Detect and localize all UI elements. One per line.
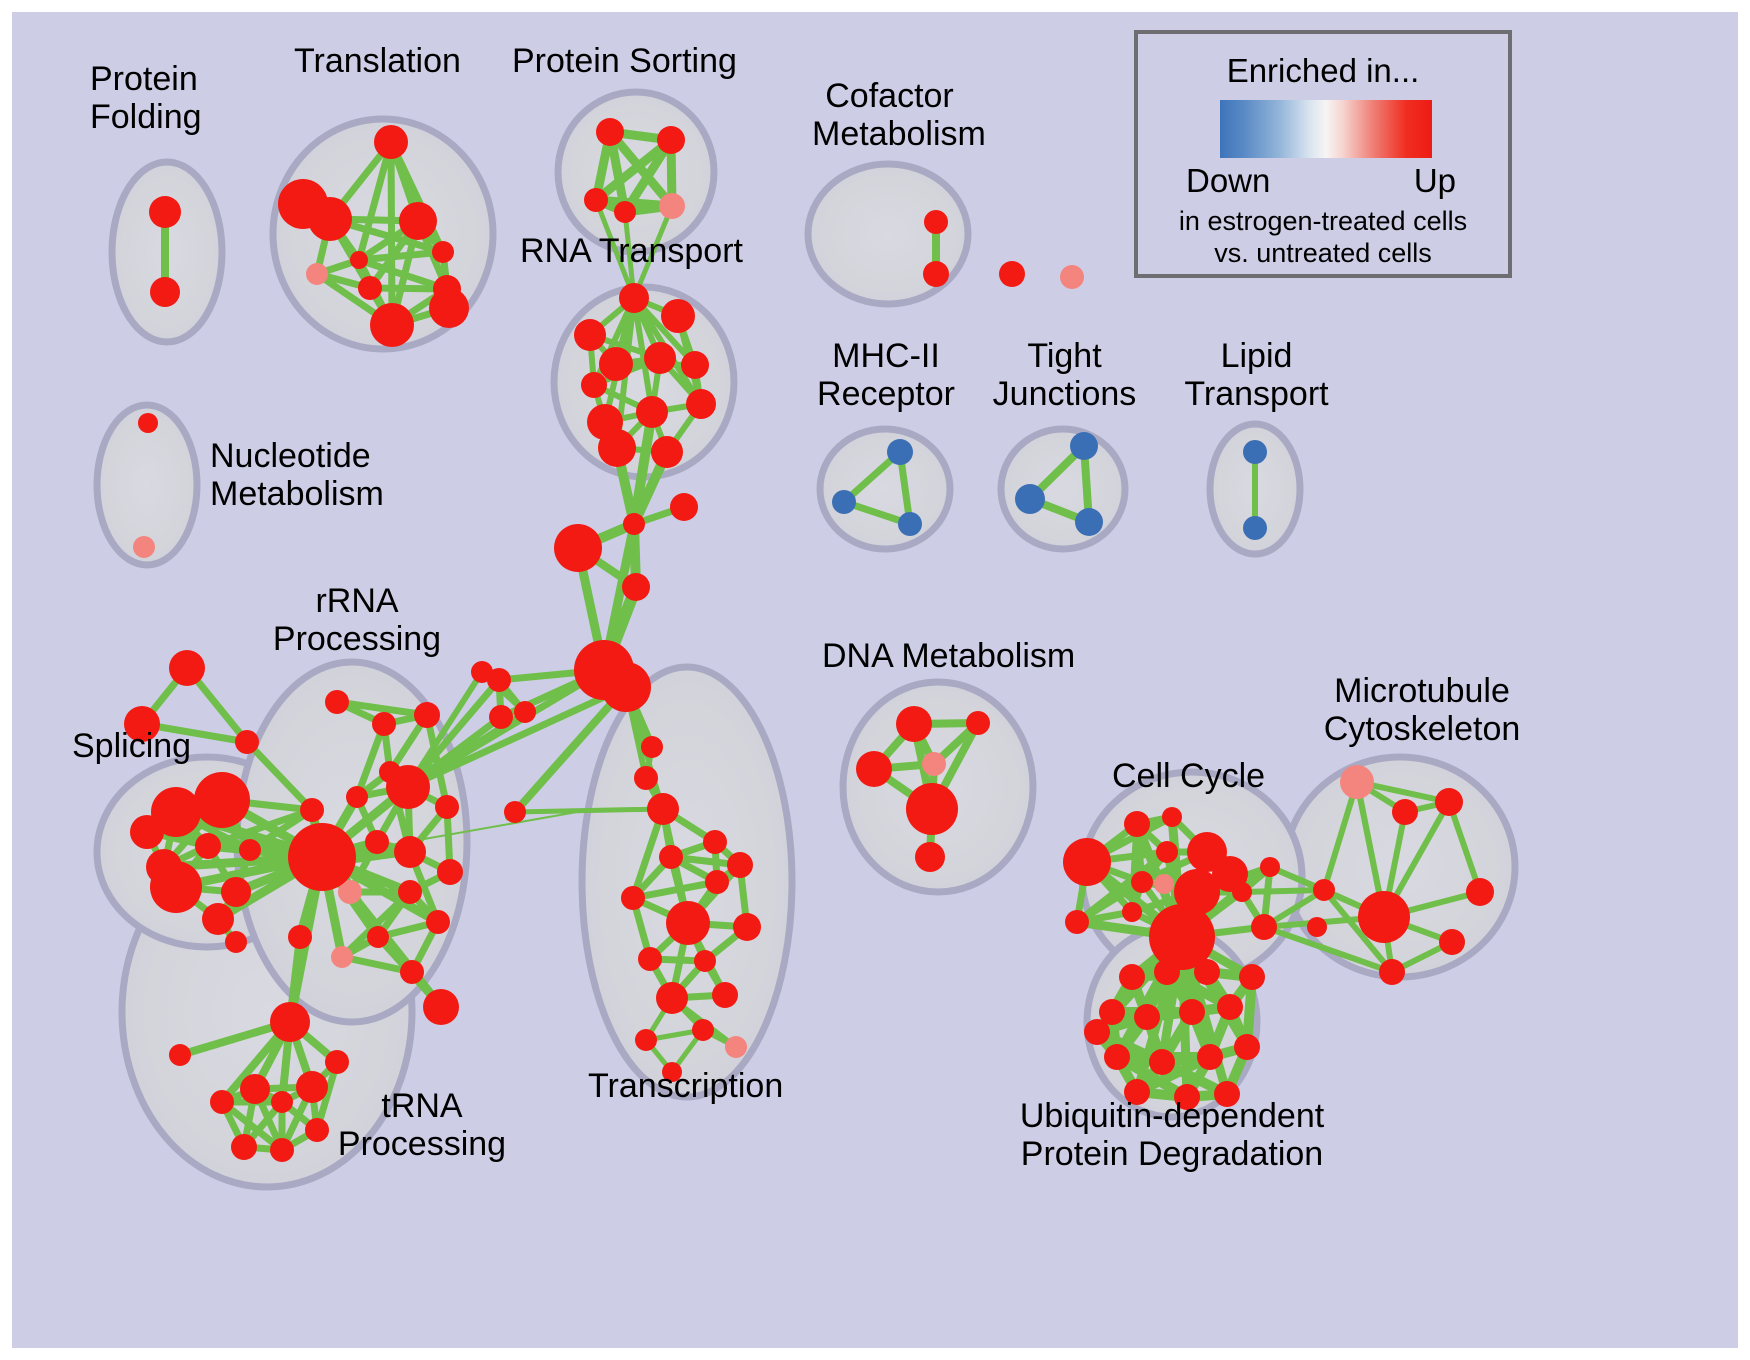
node: [429, 288, 469, 328]
node: [906, 783, 958, 835]
cluster-label-trna-processing: tRNAProcessing: [327, 1087, 517, 1163]
cluster-label-tight-junctions: TightJunctions: [987, 337, 1142, 413]
node: [288, 823, 356, 891]
legend-high-label: Up: [1414, 162, 1456, 200]
node: [1439, 929, 1465, 955]
node: [681, 351, 709, 379]
node: [733, 913, 761, 941]
cluster-label-cell-cycle: Cell Cycle: [1112, 757, 1265, 795]
node: [1122, 902, 1142, 922]
node: [644, 342, 676, 374]
node: [169, 1044, 191, 1066]
node: [300, 798, 324, 822]
node: [365, 830, 389, 854]
node: [1063, 838, 1111, 886]
node: [641, 736, 663, 758]
node: [130, 815, 164, 849]
node: [394, 836, 426, 868]
node: [1179, 999, 1205, 1025]
node: [1194, 959, 1220, 985]
node: [1134, 1004, 1160, 1030]
node: [1131, 871, 1153, 893]
node: [432, 241, 454, 263]
cluster-label-rrna-processing: rRNAProcessing: [267, 582, 447, 658]
node: [278, 179, 328, 229]
node: [651, 436, 683, 468]
node: [138, 413, 158, 433]
node: [386, 765, 430, 809]
node: [623, 513, 645, 535]
node: [414, 702, 440, 728]
node: [694, 950, 716, 972]
node: [621, 886, 645, 910]
node: [614, 201, 636, 223]
node: [221, 877, 251, 907]
node: [1104, 1044, 1130, 1070]
node: [504, 801, 526, 823]
node: [1154, 874, 1174, 894]
node: [346, 786, 368, 808]
node: [296, 1071, 328, 1103]
legend-caption-line1: in estrogen-treated cells: [1138, 206, 1508, 237]
node: [1243, 440, 1267, 464]
cluster-label-mhc-ii-receptor: MHC-IIReceptor: [807, 337, 965, 413]
figure-page: ProteinFolding Translation NucleotideMet…: [0, 0, 1750, 1360]
node: [725, 1036, 747, 1058]
node: [999, 261, 1025, 287]
cluster-label-cofactor-metabolism: CofactorMetabolism: [812, 77, 967, 153]
node: [1197, 1044, 1223, 1070]
node: [270, 1002, 310, 1042]
node: [1358, 891, 1410, 943]
node: [636, 396, 668, 428]
node: [399, 202, 437, 240]
node: [1466, 878, 1494, 906]
node: [195, 833, 221, 859]
legend-caption-line2: vs. untreated cells: [1138, 238, 1508, 269]
node: [1162, 807, 1182, 827]
node: [240, 1074, 270, 1104]
node: [305, 1118, 329, 1142]
cluster-label-translation: Translation: [294, 42, 461, 80]
node: [288, 925, 312, 949]
node: [1243, 516, 1267, 540]
node: [832, 490, 856, 514]
node: [231, 1134, 257, 1160]
node: [581, 372, 607, 398]
node: [325, 1050, 349, 1074]
node: [435, 795, 459, 819]
node: [1239, 964, 1265, 990]
node: [1149, 1049, 1175, 1075]
node: [358, 276, 382, 300]
node: [705, 870, 729, 894]
node: [1217, 994, 1243, 1020]
node: [331, 946, 353, 968]
node: [923, 261, 949, 287]
cluster-label-rna-transport: RNA Transport: [520, 232, 743, 270]
node: [1251, 914, 1277, 940]
node: [1435, 788, 1463, 816]
cluster-label-splicing: Splicing: [72, 727, 191, 765]
network-canvas: ProteinFolding Translation NucleotideMet…: [12, 12, 1738, 1348]
node: [670, 493, 698, 521]
node: [426, 910, 450, 934]
node: [1015, 484, 1045, 514]
node: [661, 299, 695, 333]
node: [370, 303, 414, 347]
hull-mhc-ii-receptor: [820, 429, 950, 549]
node: [169, 650, 205, 686]
node: [271, 1091, 293, 1113]
node: [647, 793, 679, 825]
node: [1060, 265, 1084, 289]
node: [239, 839, 261, 861]
node: [372, 712, 396, 736]
node: [656, 982, 688, 1014]
node: [1260, 857, 1280, 877]
node: [149, 196, 181, 228]
node: [225, 931, 247, 953]
node: [922, 752, 946, 776]
node: [635, 1029, 657, 1051]
node: [1124, 811, 1150, 837]
node: [202, 903, 234, 935]
node: [686, 389, 716, 419]
node: [915, 842, 945, 872]
node: [1075, 508, 1103, 536]
cluster-label-nucleotide-metabolism: NucleotideMetabolism: [210, 437, 384, 513]
node: [638, 947, 662, 971]
node: [924, 210, 948, 234]
node: [692, 1019, 714, 1041]
node: [599, 347, 633, 381]
node: [1065, 910, 1089, 934]
node: [887, 439, 913, 465]
node: [856, 751, 892, 787]
legend-color-bar: [1220, 100, 1432, 158]
node: [235, 730, 259, 754]
node: [712, 982, 738, 1008]
node: [133, 536, 155, 558]
node: [1234, 1034, 1260, 1060]
node: [437, 859, 463, 885]
node: [270, 1138, 294, 1162]
cluster-label-protein-folding: ProteinFolding: [90, 60, 202, 136]
node: [598, 429, 636, 467]
legend-low-label: Down: [1186, 162, 1270, 200]
node: [601, 662, 651, 712]
node: [514, 701, 536, 723]
legend-title: Enriched in...: [1138, 52, 1508, 90]
node: [703, 830, 727, 854]
cluster-label-transcription: Transcription: [588, 1067, 783, 1105]
node: [400, 960, 424, 984]
node: [306, 263, 328, 285]
legend-box: Enriched in... Down Up in estrogen-treat…: [1134, 30, 1512, 278]
node: [659, 193, 685, 219]
node: [210, 1090, 234, 1114]
node: [898, 512, 922, 536]
node: [1084, 1019, 1110, 1045]
node: [350, 251, 368, 269]
node: [896, 706, 932, 742]
node: [619, 283, 649, 313]
node: [1313, 879, 1335, 901]
node: [471, 661, 493, 683]
node: [634, 766, 658, 790]
node: [1340, 765, 1374, 799]
node: [374, 125, 408, 159]
node: [1392, 799, 1418, 825]
node: [1119, 964, 1145, 990]
node: [659, 845, 683, 869]
cluster-label-dna-metabolism: DNA Metabolism: [822, 637, 1075, 675]
node: [666, 901, 710, 945]
node: [584, 188, 608, 212]
node: [1154, 959, 1180, 985]
cluster-label-microtubule-cytoskeleton: MicrotubuleCytoskeleton: [1297, 672, 1547, 748]
node: [1379, 959, 1405, 985]
node: [367, 926, 389, 948]
node: [622, 573, 650, 601]
cluster-label-lipid-transport: LipidTransport: [1174, 337, 1339, 413]
node: [194, 772, 250, 828]
node: [423, 989, 459, 1025]
node: [398, 880, 422, 904]
cluster-label-protein-sorting: Protein Sorting: [512, 42, 737, 80]
node: [1307, 917, 1327, 937]
node: [325, 690, 349, 714]
cluster-label-ubiquitin-protein-degradation: Ubiquitin-dependentProtein Degradation: [997, 1097, 1347, 1173]
node: [150, 861, 202, 913]
node: [1232, 882, 1252, 902]
node: [727, 852, 753, 878]
node: [657, 126, 685, 154]
node: [574, 319, 606, 351]
node: [1070, 432, 1098, 460]
node: [489, 705, 513, 729]
node: [966, 711, 990, 735]
node: [554, 524, 602, 572]
node: [596, 118, 624, 146]
node: [1156, 841, 1178, 863]
node: [150, 277, 180, 307]
